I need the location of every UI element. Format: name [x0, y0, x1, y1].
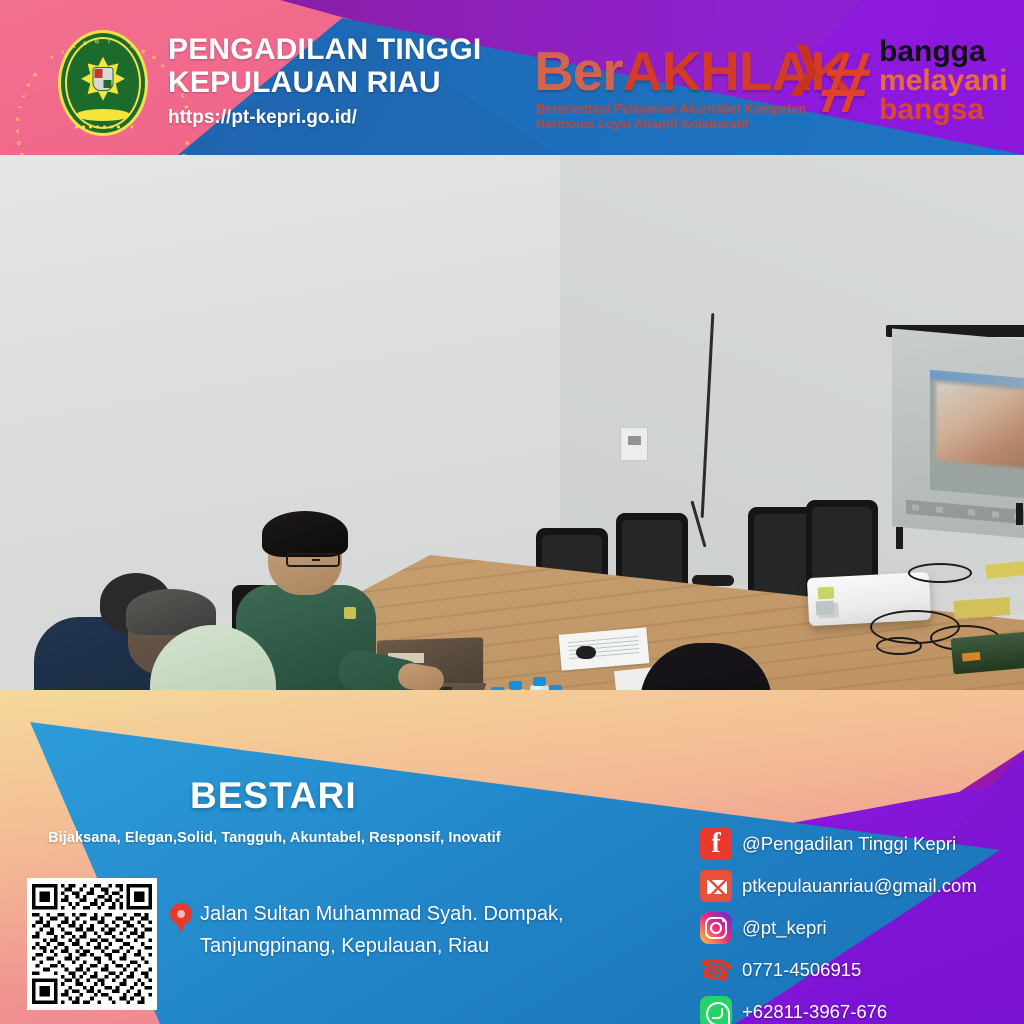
screen-leg-left [896, 527, 903, 549]
address-text: Jalan Sultan Muhammad Syah. Dompak, Tanj… [200, 898, 564, 962]
tagline-subtitle: Bijaksana, Elegan,Solid, Tangguh, Akunta… [48, 830, 501, 846]
website-url[interactable]: https://pt-kepri.go.id/ [168, 107, 357, 129]
chair-armrest [692, 575, 734, 586]
header-banner: PENGADILAN TINGGI KEPULAUAN RIAU PENGADI… [0, 0, 1024, 155]
contact-phone-label: 0771-4506915 [742, 959, 861, 981]
contact-whatsapp-label: +62811-3967-676 [742, 1001, 887, 1023]
berakhlak-prefix: Ber [534, 40, 623, 102]
presenter-hair [262, 511, 348, 557]
projected-image [936, 382, 1024, 468]
contact-email[interactable]: ptkepulauanriau@gmail.com [700, 867, 1024, 905]
contact-whatsapp[interactable]: +62811-3967-676 [700, 993, 1024, 1024]
document-paper [559, 627, 650, 671]
cable-coil [876, 637, 922, 655]
organization-title-line1: PENGADILAN TINGGI [168, 33, 481, 66]
berakhlak-values-line2: Harmonis Loyal Adaptif Kolaboratif [536, 117, 806, 132]
projected-taskbar [906, 500, 1024, 525]
bangga-melayani-bangsa-logo: # bangga melayani bangsa [822, 34, 1022, 139]
contact-instagram-label: @pt_kepri [742, 917, 827, 939]
contact-facebook-label: @Pengadilan Tinggi Kepri [742, 833, 956, 855]
location-pin-icon [170, 903, 192, 933]
facebook-icon [700, 828, 732, 860]
address-line1: Jalan Sultan Muhammad Syah. Dompak, [200, 898, 564, 930]
presenter-badge [344, 607, 356, 619]
eyeglasses-icon [286, 553, 340, 567]
berakhlak-logo: BerAKHLAK ❯ Berorientasi Pelayanan Akunt… [534, 42, 824, 142]
hashtag-icon: # [815, 40, 876, 126]
projector-lens [818, 587, 835, 600]
footer-banner: BESTARI Bijaksana, Elegan,Solid, Tangguh… [0, 690, 1024, 1024]
organization-title-line2: KEPULAUAN RIAU [168, 66, 481, 99]
thermostat-panel [620, 427, 648, 461]
seal-ring-text: PENGADILAN TINGGI KEPULAUAN RIAU [58, 30, 148, 136]
organization-title: PENGADILAN TINGGI KEPULAUAN RIAU [168, 33, 481, 99]
contact-phone[interactable]: 0771-4506915 [700, 951, 1024, 989]
email-icon [700, 870, 732, 902]
projector-label [816, 601, 835, 616]
contact-email-label: ptkepulauanriau@gmail.com [742, 875, 977, 897]
screen-leg-right [1016, 503, 1023, 525]
phone-icon [700, 954, 732, 986]
qr-code[interactable] [27, 878, 157, 1010]
projector-screen [892, 329, 1024, 540]
cable-coil [908, 563, 972, 583]
poster: PENGADILAN TINGGI KEPULAUAN RIAU PENGADI… [0, 0, 1024, 1024]
computer-mouse [576, 646, 596, 659]
yellow-box [953, 597, 1010, 619]
berakhlak-values-line1: Berorientasi Pelayanan Akuntabel Kompete… [536, 102, 806, 117]
berakhlak-values: Berorientasi Pelayanan Akuntabel Kompete… [536, 102, 806, 132]
contact-list: @Pengadilan Tinggi Kepri ptkepulauanriau… [700, 825, 1024, 1024]
contact-facebook[interactable]: @Pengadilan Tinggi Kepri [700, 825, 1024, 863]
bangga-line3: bangsa [879, 94, 984, 126]
projected-window [930, 370, 1024, 499]
instagram-icon [700, 912, 732, 944]
contact-instagram[interactable]: @pt_kepri [700, 909, 1024, 947]
qr-code-image [32, 883, 152, 1005]
whatsapp-icon [700, 996, 732, 1024]
green-device [951, 632, 1024, 675]
tagline-title: BESTARI [190, 775, 357, 817]
address-line2: Tanjungpinang, Kepulauan, Riau [200, 930, 564, 962]
court-seal-icon: PENGADILAN TINGGI KEPULAUAN RIAU [58, 30, 148, 136]
